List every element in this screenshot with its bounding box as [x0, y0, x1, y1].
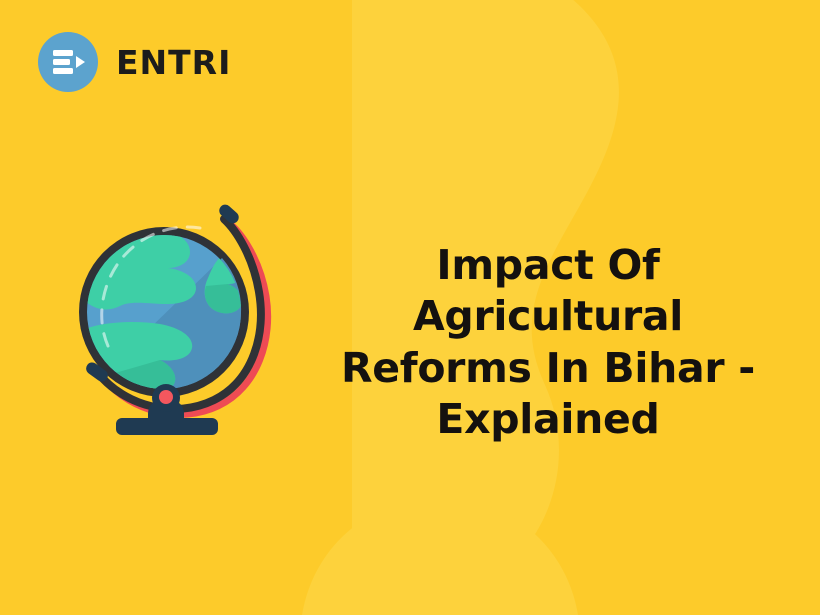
- brand-lockup: ENTRI: [38, 32, 231, 92]
- entri-e-play-icon: [38, 32, 98, 92]
- logo-e-bar-middle: [53, 59, 70, 65]
- logo-e-bar-bottom: [53, 68, 73, 74]
- brand-wordmark: ENTRI: [116, 46, 231, 79]
- poster-canvas: ENTRI: [0, 0, 820, 615]
- globe-icon: [72, 198, 272, 438]
- background-blob-bottom: [300, 498, 580, 615]
- globe-stand-pivot-dot: [159, 390, 173, 404]
- logo-play-triangle-icon: [76, 56, 85, 68]
- logo-e-bar-top: [53, 50, 73, 56]
- logo-e-glyph: [53, 50, 73, 74]
- page-title: Impact Of Agricultural Reforms In Bihar …: [326, 240, 770, 445]
- globe-stand-base: [116, 418, 218, 435]
